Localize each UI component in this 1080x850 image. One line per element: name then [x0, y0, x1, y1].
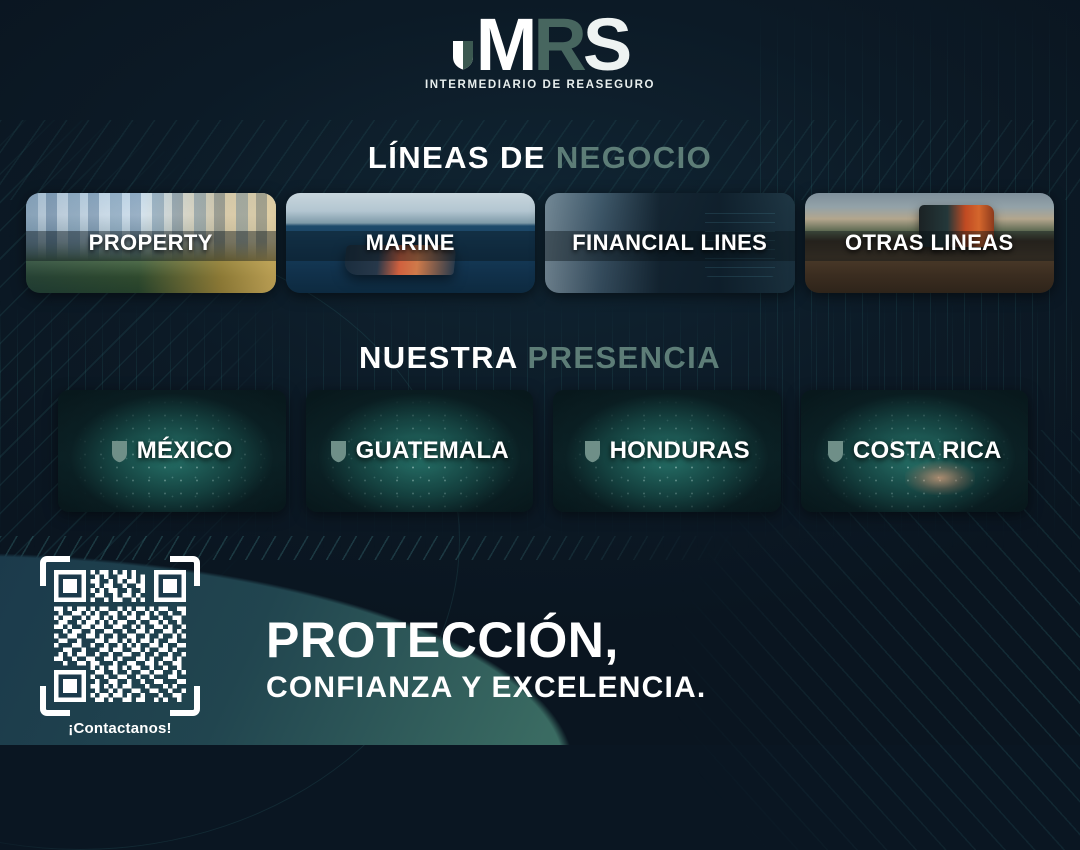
brand-logo: M R S INTERMEDIARIO DE REASEGURO — [0, 16, 1080, 91]
shield-icon — [584, 440, 601, 463]
country-card-costa-rica[interactable]: COSTA RICA — [801, 390, 1029, 512]
presence-heading-muted: PRESENCIA — [528, 340, 721, 375]
qr-block[interactable]: ¡Contactanos! — [36, 556, 204, 737]
logo-wordmark: M R S — [452, 16, 628, 74]
business-line-label: OTRAS LINEAS — [805, 230, 1055, 256]
business-line-card-marine[interactable]: MARINE — [286, 193, 536, 293]
country-card-content: MÉXICO — [58, 437, 286, 465]
country-card-content: COSTA RICA — [801, 437, 1029, 465]
logo-letter-r: R — [533, 16, 582, 74]
business-line-card-property[interactable]: PROPERTY — [26, 193, 276, 293]
presence-countries-row: MÉXICO GUATEMALA HONDURAS COSTA RICA — [58, 390, 1028, 512]
country-card-content: HONDURAS — [553, 437, 781, 465]
presence-heading-white: NUESTRA — [359, 340, 518, 375]
country-card-mexico[interactable]: MÉXICO — [58, 390, 286, 512]
country-label: MÉXICO — [137, 437, 233, 465]
country-label: HONDURAS — [610, 437, 750, 465]
city-lights-glow — [905, 461, 975, 495]
qr-code-icon[interactable] — [54, 570, 186, 702]
tagline-line-2: CONFIANZA Y EXCELENCIA. — [266, 671, 706, 705]
business-line-label: MARINE — [286, 230, 536, 256]
logo-letter-s: S — [583, 16, 628, 74]
business-line-label: FINANCIAL LINES — [545, 230, 795, 256]
business-line-card-otras-lineas[interactable]: OTRAS LINEAS — [805, 193, 1055, 293]
logo-subtitle: INTERMEDIARIO DE REASEGURO — [425, 79, 655, 91]
business-line-card-financial-lines[interactable]: FINANCIAL LINES — [545, 193, 795, 293]
business-lines-heading: LÍNEAS DE NEGOCIO — [0, 140, 1080, 176]
shield-icon — [827, 440, 844, 463]
presence-heading: NUESTRA PRESENCIA — [0, 340, 1080, 376]
logo-letter-m: M — [476, 16, 534, 74]
business-lines-heading-white: LÍNEAS DE — [368, 140, 546, 175]
shield-icon — [111, 440, 128, 463]
country-card-honduras[interactable]: HONDURAS — [553, 390, 781, 512]
qr-frame — [40, 556, 200, 716]
business-lines-row: PROPERTY MARINE FINANCIAL LINES OTRAS LI… — [26, 193, 1054, 293]
shield-icon — [330, 440, 347, 463]
tagline-line-1: PROTECCIÓN, — [266, 615, 706, 666]
footer-tagline: PROTECCIÓN, CONFIANZA Y EXCELENCIA. — [266, 615, 706, 705]
country-label: COSTA RICA — [853, 437, 1002, 465]
business-line-label: PROPERTY — [26, 230, 276, 256]
country-card-content: GUATEMALA — [306, 437, 534, 465]
business-lines-heading-muted: NEGOCIO — [556, 140, 712, 175]
shield-icon — [452, 40, 474, 70]
country-label: GUATEMALA — [356, 437, 509, 465]
qr-caption: ¡Contactanos! — [68, 720, 171, 737]
country-card-guatemala[interactable]: GUATEMALA — [306, 390, 534, 512]
